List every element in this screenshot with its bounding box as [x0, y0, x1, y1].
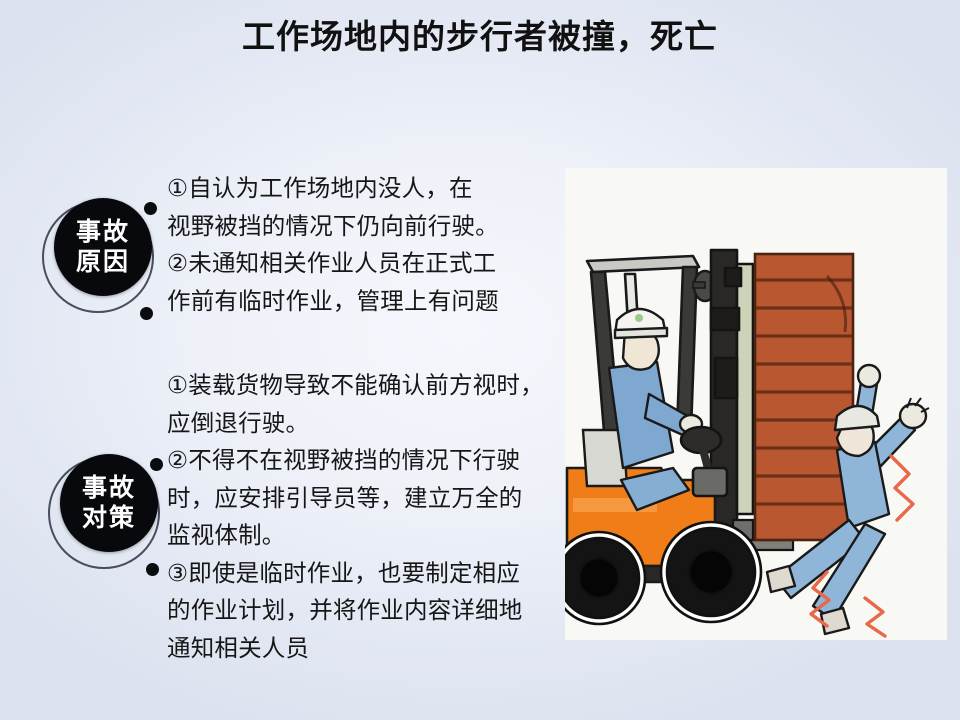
accident-countermeasure-text: ①装载货物导致不能确认前方视时， 应倒退行驶。 ②不得不在视野被挡的情况下行驶 … — [167, 367, 557, 667]
badge-cause-line1: 事故 — [76, 217, 130, 247]
countermeasure-line: 监视体制。 — [167, 517, 557, 555]
cause-line: 视野被挡的情况下仍向前行驶。 — [167, 208, 557, 246]
countermeasure-line: 时，应安排引导员等，建立万全的 — [167, 480, 557, 518]
badge-circle-countermeasure: 事故 对策 — [60, 454, 158, 552]
countermeasure-line: ①装载货物导致不能确认前方视时， — [167, 367, 557, 405]
badge-cause-line2: 原因 — [76, 247, 130, 277]
cause-line: ①自认为工作场地内没人，在 — [167, 170, 557, 208]
badge-action-line1: 事故 — [82, 473, 136, 503]
badge-dot-top-right-icon — [144, 202, 157, 215]
countermeasure-line: 应倒退行驶。 — [167, 405, 557, 443]
badge-action-line2: 对策 — [82, 503, 136, 533]
badge-circle-cause: 事故 原因 — [54, 198, 152, 296]
accident-illustration — [565, 168, 947, 640]
page-title: 工作场地内的步行者被撞，死亡 — [0, 14, 960, 60]
countermeasure-line: 的作业计划，并将作业内容详细地 — [167, 592, 557, 630]
badge-dot-bottom-right-icon — [140, 307, 153, 320]
countermeasure-line: ③即使是临时作业，也要制定相应 — [167, 555, 557, 593]
cause-line: ②未通知相关作业人员在正式工 — [167, 245, 557, 283]
badge-dot-top-right-icon — [150, 458, 163, 471]
countermeasure-line: 通知相关人员 — [167, 630, 557, 668]
badge-accident-countermeasure: 事故 对策 — [46, 452, 172, 578]
countermeasure-line: ②不得不在视野被挡的情况下行驶 — [167, 442, 557, 480]
accident-cause-text: ①自认为工作场地内没人，在 视野被挡的情况下仍向前行驶。 ②未通知相关作业人员在… — [167, 170, 557, 320]
badge-dot-bottom-right-icon — [146, 563, 159, 576]
badge-accident-cause: 事故 原因 — [40, 196, 166, 322]
cause-line: 作前有临时作业，管理上有问题 — [167, 283, 557, 321]
slide-canvas: 工作场地内的步行者被撞，死亡 事故 原因 事故 对策 ①自认为工作场地内没人，在… — [0, 0, 960, 720]
